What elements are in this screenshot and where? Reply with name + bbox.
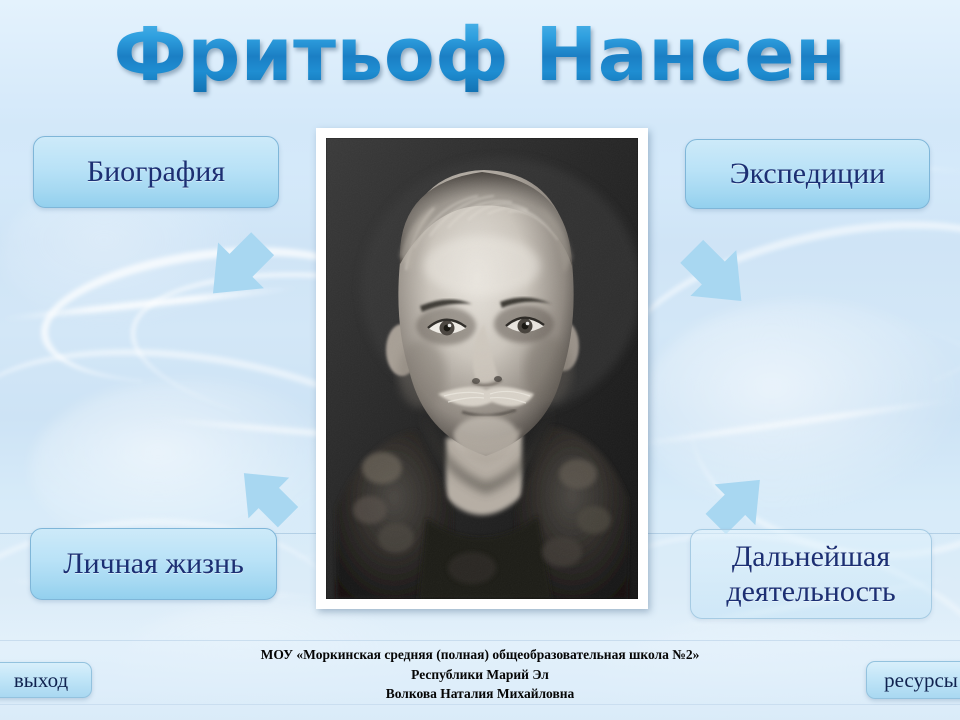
ice-wisp — [606, 188, 960, 451]
ice-streak — [621, 396, 959, 449]
menu-button-personal-life-label: Личная жизнь — [63, 548, 244, 580]
footer-credit-line-1: МОУ «Моркинская средняя (полная) общеобр… — [170, 645, 790, 665]
background-divider-line — [0, 704, 960, 705]
footer-credit-line-3: Волкова Наталия Михайловна — [170, 684, 790, 704]
menu-button-expeditions[interactable]: Экспедиции — [685, 139, 930, 209]
menu-button-biography[interactable]: Биография — [33, 136, 279, 208]
resources-button[interactable]: ресурсы — [866, 661, 960, 699]
menu-button-further-activity-label-line2: деятельность — [726, 574, 895, 609]
slide-title: Фритьоф Нансен — [0, 18, 960, 92]
nansen-portrait-photo — [326, 138, 638, 599]
menu-button-personal-life[interactable]: Личная жизнь — [30, 528, 277, 600]
portrait-frame — [316, 128, 648, 609]
background-divider-line — [0, 640, 960, 641]
menu-button-expeditions-label: Экспедиции — [730, 158, 885, 190]
presentation-slide: Фритьоф Нансен — [0, 0, 960, 720]
resources-button-label: ресурсы — [884, 668, 958, 693]
exit-button-label: выход — [14, 668, 68, 693]
footer-credit: МОУ «Моркинская средняя (полная) общеобр… — [170, 645, 790, 704]
menu-button-biography-label: Биография — [87, 156, 225, 188]
footer-credit-line-2: Республики Марий Эл — [170, 665, 790, 685]
ice-blob — [640, 300, 960, 520]
exit-button[interactable]: выход — [0, 662, 92, 698]
menu-button-further-activity-label-line1: Дальнейшая — [732, 539, 890, 574]
menu-button-further-activity[interactable]: Дальнейшая деятельность — [690, 529, 932, 619]
